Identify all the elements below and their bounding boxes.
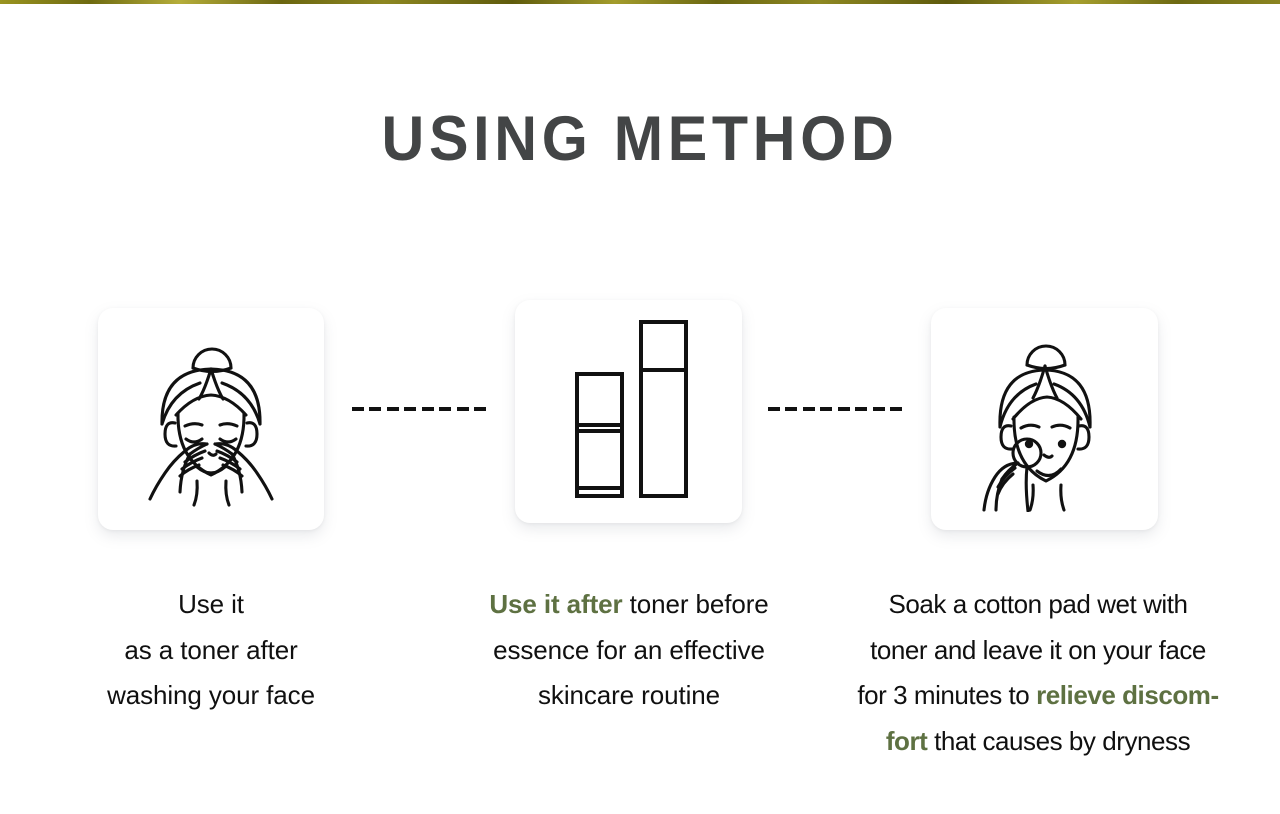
caption-line: skincare routine xyxy=(440,673,818,719)
caption-line: Soak a cotton pad wet with xyxy=(838,582,1238,628)
step-caption-2: Use it after toner before essence for an… xyxy=(440,582,818,719)
caption-text: toner before xyxy=(623,589,769,619)
caption-highlight: Use it after xyxy=(489,589,622,619)
caption-line: toner and leave it on your face xyxy=(838,628,1238,674)
step-card-2 xyxy=(515,300,742,523)
woman-washing-face-icon xyxy=(121,327,301,512)
dashed-connector-1 xyxy=(352,404,486,414)
caption-text: for 3 minutes to xyxy=(857,680,1036,710)
using-method-infographic: USING METHOD xyxy=(0,0,1280,814)
step-caption-3: Soak a cotton pad wet with toner and lea… xyxy=(838,582,1238,764)
step-card-3 xyxy=(931,308,1158,530)
caption-line: essence for an effective xyxy=(440,628,818,674)
dashed-connector-2 xyxy=(768,404,902,414)
toner-bottles-icon xyxy=(563,317,695,507)
caption-highlight: relieve discom- xyxy=(1036,680,1219,710)
woman-cotton-pad-icon xyxy=(955,327,1135,512)
page-title: USING METHOD xyxy=(38,108,1241,171)
caption-line: as a toner after xyxy=(72,628,350,674)
step-caption-1: Use it as a toner after washing your fac… xyxy=(72,582,350,719)
caption-text: that causes by dryness xyxy=(927,726,1190,756)
caption-line: Use it after toner before xyxy=(440,582,818,628)
caption-line: washing your face xyxy=(72,673,350,719)
caption-line: for 3 minutes to relieve discom- xyxy=(838,673,1238,719)
caption-line: Use it xyxy=(72,582,350,628)
caption-line: fort that causes by dryness xyxy=(838,719,1238,765)
top-accent-rule xyxy=(0,0,1280,4)
caption-highlight: fort xyxy=(886,726,928,756)
step-card-1 xyxy=(98,308,324,530)
